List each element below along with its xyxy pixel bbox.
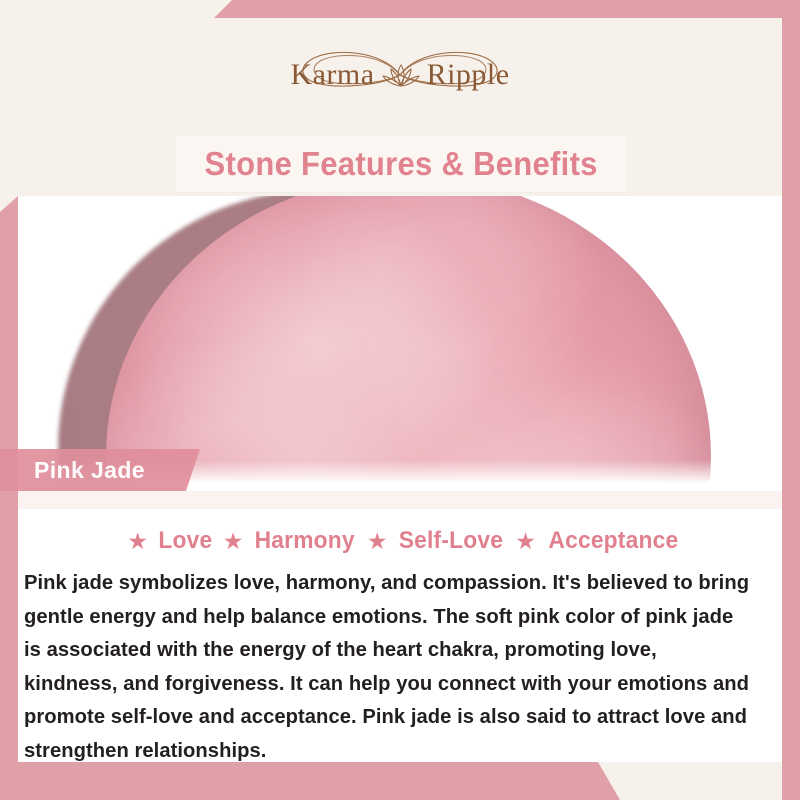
stone-name-label: Pink Jade xyxy=(34,457,145,484)
star-icon: ★ xyxy=(367,530,388,553)
keyword-label: Acceptance xyxy=(548,527,678,555)
title-banner: Stone Features & Benefits xyxy=(176,136,626,192)
keyword-label: Self-Love xyxy=(399,527,503,555)
ribbon-underline-strip xyxy=(18,491,782,509)
stone-name-ribbon: Pink Jade xyxy=(0,449,200,491)
page-title: Stone Features & Benefits xyxy=(204,145,597,183)
keyword-item: ★ Love xyxy=(118,527,213,555)
keyword-item: ★ Self-Love xyxy=(358,527,506,555)
keyword-item: ★ Harmony xyxy=(214,527,358,555)
description-paragraph: Pink jade symbolizes love, harmony, and … xyxy=(24,566,753,767)
stone-photo xyxy=(18,196,782,486)
infographic-page: Karma Ripple xyxy=(0,0,800,800)
star-icon: ★ xyxy=(515,530,536,553)
frame-bar-right xyxy=(782,0,800,800)
keyword-item: ★ Acceptance xyxy=(506,527,681,555)
star-icon: ★ xyxy=(223,530,244,553)
keyword-label: Love xyxy=(158,527,212,555)
star-icon: ★ xyxy=(127,530,148,553)
keyword-label: Harmony xyxy=(255,527,355,555)
keyword-list: ★ Love ★ Harmony ★ Self-Love ★ Acceptanc… xyxy=(18,522,782,560)
